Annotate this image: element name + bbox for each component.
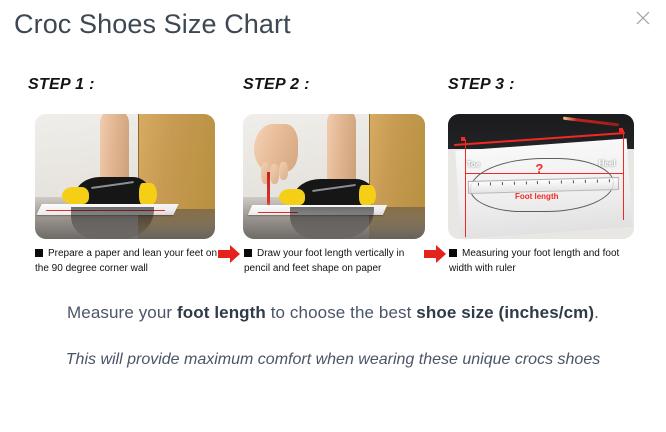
ruler-tick bbox=[526, 181, 527, 184]
diagram-label-toe: Toe bbox=[467, 160, 481, 169]
step-block-3: STEP 3 : bbox=[446, 76, 634, 288]
summary-prefix: Measure your bbox=[67, 303, 177, 322]
ruler-tick bbox=[609, 179, 610, 182]
summary-emphasis-2: shoe size (inches/cm) bbox=[416, 303, 594, 322]
diagram-label-foot-length: Foot length bbox=[515, 192, 559, 201]
ruler-tick bbox=[573, 180, 574, 183]
arrow-right-icon-2-svg bbox=[424, 245, 446, 263]
note-line: This will provide maximum comfort when w… bbox=[33, 346, 633, 374]
arrow-right-icon-2 bbox=[424, 244, 446, 264]
ruler-tick bbox=[597, 180, 598, 183]
measuring-diagram: Toe Heel ? Foot length bbox=[448, 114, 634, 239]
leg bbox=[100, 114, 129, 187]
summary-line: Measure your foot length to choose the b… bbox=[0, 303, 666, 323]
page-title: Croc Shoes Size Chart bbox=[14, 9, 291, 40]
bullet-square-icon bbox=[35, 249, 43, 257]
summary-middle: to choose the best bbox=[266, 303, 416, 322]
step-caption-3-text: Measuring your foot length and foot widt… bbox=[449, 248, 619, 274]
step-caption-2: Draw your foot length vertically in penc… bbox=[244, 246, 426, 276]
step-photo-2 bbox=[243, 114, 425, 239]
summary-emphasis-1: foot length bbox=[177, 303, 266, 322]
ruler-tick bbox=[478, 183, 479, 186]
croc-toe-yellow bbox=[279, 189, 304, 205]
step-caption-1-text: Prepare a paper and lean your feet on th… bbox=[35, 248, 217, 274]
step-block-2: STEP 2 : D bbox=[241, 76, 429, 288]
red-corner-mark-right bbox=[619, 128, 623, 132]
ruler-tick bbox=[490, 182, 491, 185]
ruler-tick bbox=[562, 181, 563, 184]
step-photo-1 bbox=[35, 114, 215, 239]
arrow-right-icon-1 bbox=[218, 244, 240, 264]
red-line-left-vertical bbox=[465, 139, 467, 237]
close-icon-svg bbox=[635, 10, 651, 26]
bullet-square-icon bbox=[449, 249, 457, 257]
steps-row: STEP 1 : Prepare a paper and lean your f… bbox=[0, 76, 666, 288]
bullet-square-icon bbox=[244, 249, 252, 257]
croc-heel-yellow bbox=[359, 185, 375, 205]
step-label-3: STEP 3 : bbox=[448, 76, 515, 94]
step-photo-1-scene bbox=[35, 114, 215, 239]
step-photo-3: Toe Heel ? Foot length bbox=[448, 114, 634, 239]
step-photo-2-scene bbox=[243, 114, 425, 239]
leg bbox=[327, 114, 356, 183]
close-icon bbox=[635, 10, 651, 26]
red-corner-mark-left bbox=[461, 137, 465, 141]
modal-header: Croc Shoes Size Chart bbox=[0, 0, 666, 62]
ruler-tick bbox=[550, 181, 551, 184]
diagram-label-question: ? bbox=[535, 162, 543, 175]
step-block-1: STEP 1 : Prepare a paper and lean your f… bbox=[26, 76, 214, 288]
red-line-right bbox=[623, 130, 625, 220]
cardboard-box bbox=[369, 114, 425, 207]
croc-toe-yellow bbox=[62, 187, 89, 205]
ruler-tick bbox=[502, 182, 503, 185]
diagram-label-heel: Heel bbox=[599, 159, 616, 168]
finger-2 bbox=[270, 164, 279, 184]
croc-heel-yellow bbox=[139, 183, 157, 206]
step-label-2: STEP 2 : bbox=[243, 76, 310, 94]
ruler-tick bbox=[514, 182, 515, 185]
close-button[interactable] bbox=[629, 4, 657, 32]
step-caption-1: Prepare a paper and lean your feet on th… bbox=[35, 246, 217, 276]
step-caption-2-text: Draw your foot length vertically in penc… bbox=[244, 248, 404, 274]
ruler-tick bbox=[538, 181, 539, 184]
step-caption-3: Measuring your foot length and foot widt… bbox=[449, 246, 631, 276]
step-label-1: STEP 1 : bbox=[28, 76, 95, 94]
arrow-right-icon-1-svg bbox=[218, 245, 240, 263]
summary-suffix: . bbox=[594, 303, 599, 322]
ruler-tick bbox=[585, 180, 586, 183]
